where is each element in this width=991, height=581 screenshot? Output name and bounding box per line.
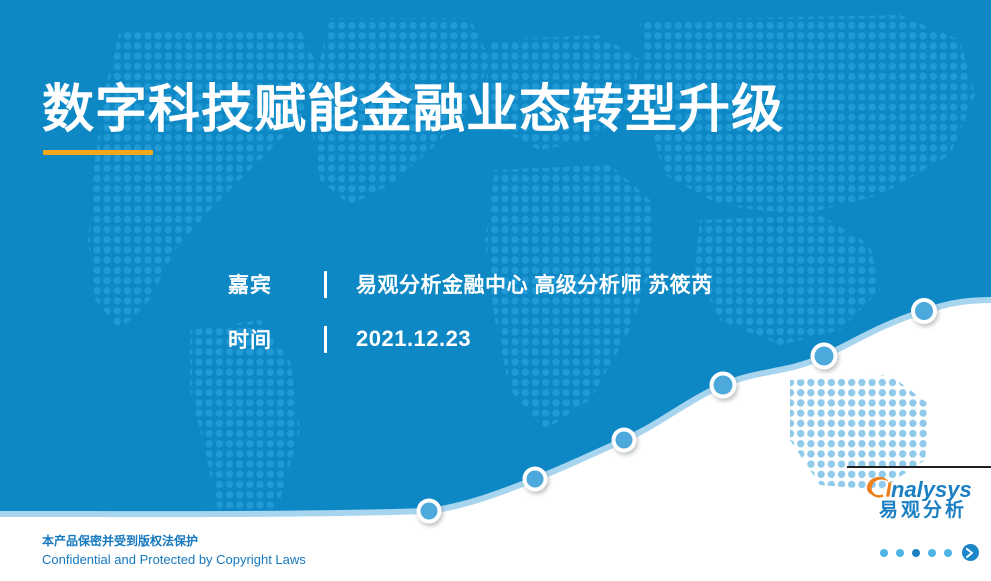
svg-text:nalysys: nalysys — [891, 477, 972, 501]
meta-divider — [324, 326, 327, 353]
slide-meta-block: 嘉宾 易观分析金融中心 高级分析师 苏筱芮 时间 2021.12.23 — [228, 266, 713, 376]
title-underline-accent — [43, 150, 153, 155]
logo-divider-rule — [847, 466, 991, 468]
pager-dot-5[interactable] — [944, 549, 952, 557]
pager-dot-1[interactable] — [880, 549, 888, 557]
presentation-slide: 数字科技赋能金融业态转型升级 嘉宾 易观分析金融中心 高级分析师 苏筱芮 时间 … — [0, 0, 991, 581]
meta-value-date: 2021.12.23 — [356, 326, 471, 352]
copyright-text-en: Confidential and Protected by Copyright … — [42, 550, 306, 569]
pager-dot-3[interactable] — [912, 549, 920, 557]
meta-row-date: 时间 2021.12.23 — [228, 321, 713, 357]
pager-dot-2[interactable] — [896, 549, 904, 557]
analysys-wordmark-icon: nalysys — [864, 474, 982, 501]
meta-label-speaker: 嘉宾 — [228, 269, 324, 299]
meta-row-speaker: 嘉宾 易观分析金融中心 高级分析师 苏筱芮 — [228, 266, 713, 302]
copyright-text-cn: 本产品保密并受到版权法保护 — [42, 532, 306, 550]
analysys-logo: nalysys 易观分析 — [855, 474, 991, 534]
pager-dot-4[interactable] — [928, 549, 936, 557]
slide-title: 数字科技赋能金融业态转型升级 — [42, 80, 784, 140]
meta-label-date: 时间 — [228, 324, 324, 354]
pager-dots[interactable] — [880, 544, 979, 561]
analysys-logo-cn: 易观分析 — [855, 500, 991, 522]
copyright-footer: 本产品保密并受到版权法保护 Confidential and Protected… — [42, 532, 306, 569]
meta-divider — [324, 271, 327, 298]
chevron-right-icon[interactable] — [962, 544, 979, 561]
meta-value-speaker: 易观分析金融中心 高级分析师 苏筱芮 — [356, 269, 713, 299]
